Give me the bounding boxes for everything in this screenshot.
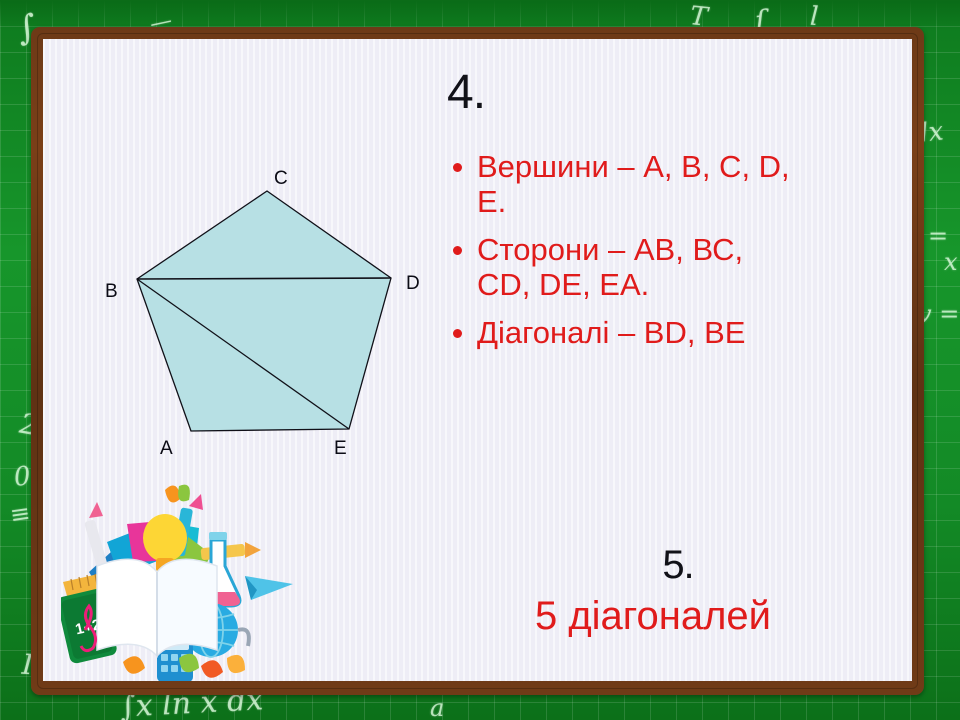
- wooden-frame: A B C D E 4. Вершини – А, В, С, D, E.Сто…: [31, 27, 924, 695]
- bullet-item-3: Діагоналі – ВD, ВЕ: [433, 315, 803, 350]
- bullet-dot-icon: [453, 329, 462, 338]
- chalk-mark: ≡: [8, 499, 32, 530]
- bullet-text: Вершини – А, В, С, D, E.: [477, 149, 790, 219]
- open-book-icon: [97, 559, 217, 656]
- vertex-label-e: E: [334, 439, 347, 458]
- bullet-dot-icon: [453, 246, 462, 255]
- vertex-label-c: C: [274, 169, 288, 188]
- answer-text: 5 діагоналей: [433, 592, 893, 640]
- diagonal-bd: [137, 278, 391, 279]
- chalk-mark: 0: [12, 461, 32, 493]
- pentagon-figure: A B C D E: [43, 39, 463, 479]
- inner-board: A B C D E 4. Вершини – А, В, С, D, E.Сто…: [43, 39, 912, 681]
- heading-item-4: 4.: [447, 69, 883, 117]
- bullet-list: Вершини – А, В, С, D, E.Сторони – АВ, ВС…: [433, 149, 803, 350]
- chalk-mark: =: [928, 222, 948, 250]
- chalk-mark: a: [430, 694, 444, 720]
- vertex-label-d: D: [406, 274, 420, 293]
- bullet-item-2: Сторони – АВ, ВС, СD, DE, EA.: [433, 232, 803, 302]
- bullet-dot-icon: [453, 163, 462, 172]
- bullet-item-1: Вершини – А, В, С, D, E.: [433, 149, 803, 219]
- answer-block: 5. 5 діагоналей: [433, 544, 893, 640]
- pentagon-svg: [43, 39, 463, 479]
- bullet-text: Сторони – АВ, ВС, СD, DE, EA.: [477, 232, 743, 302]
- chalk-mark: x: [944, 248, 958, 276]
- vertex-label-b: B: [105, 282, 118, 301]
- school-supplies-clipart: 1+2: [61, 480, 321, 681]
- pentagon-shape: [137, 191, 391, 431]
- slide-canvas: ∫Tſl—dx=xv =20≡I∫x ln x dxa A B C D E 4.: [0, 0, 960, 720]
- bullet-text: Діагоналі – ВD, ВЕ: [477, 315, 745, 350]
- paper-plane-icon: [245, 576, 293, 600]
- text-column: 4. Вершини – А, В, С, D, E.Сторони – АВ,…: [433, 69, 883, 363]
- heading-item-5: 5.: [433, 544, 893, 586]
- vertex-label-a: A: [160, 439, 173, 458]
- chalk-mark: v =: [918, 300, 959, 328]
